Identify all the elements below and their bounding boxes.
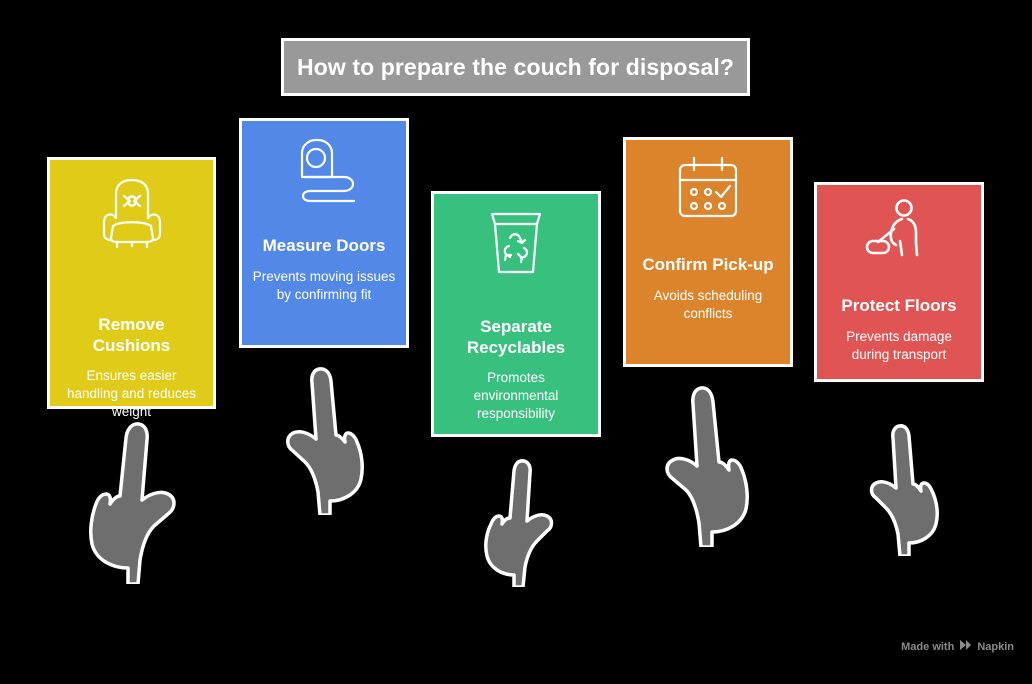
pointing-hand-5 [860, 420, 954, 556]
watermark-made-with: Made with [901, 641, 954, 653]
napkin-logo-icon [959, 639, 972, 654]
calendar-check-icon [672, 154, 744, 227]
pointing-hand-1 [70, 418, 190, 584]
armchair-icon [100, 174, 164, 257]
step-card-separate-recyclables[interactable]: Separate Recyclables Promotes environmen… [431, 191, 601, 437]
watermark-brand: Napkin [977, 641, 1014, 653]
person-mopping-icon [864, 199, 934, 270]
card-description: Prevents moving issues by confirming fit [252, 268, 396, 304]
page-title-bar: How to prepare the couch for disposal? [281, 38, 750, 96]
card-description: Prevents damage during transport [827, 328, 971, 364]
step-card-remove-cushions[interactable]: Remove Cushions Ensures easier handling … [47, 157, 216, 409]
pointing-hand-2 [272, 363, 382, 515]
card-description: Avoids scheduling conflicts [636, 287, 780, 323]
step-card-measure-doors[interactable]: Measure Doors Prevents moving issues by … [239, 118, 409, 348]
step-card-protect-floors[interactable]: Protect Floors Prevents damage during tr… [814, 182, 984, 382]
card-title: Protect Floors [841, 296, 956, 317]
watermark: Made with Napkin [901, 639, 1014, 654]
card-description: Ensures easier handling and reduces weig… [60, 367, 203, 421]
card-title: Separate Recyclables [444, 317, 588, 358]
card-description: Promotes environmental responsibility [444, 369, 588, 423]
card-title: Measure Doors [263, 236, 386, 257]
card-title: Remove Cushions [60, 315, 203, 356]
pointing-hand-4 [650, 382, 768, 547]
tape-measure-icon [288, 135, 360, 212]
page-title: How to prepare the couch for disposal? [297, 54, 734, 81]
infographic-canvas: How to prepare the couch for disposal? R… [0, 0, 1032, 684]
recycle-bin-icon [487, 208, 545, 283]
pointing-hand-3 [470, 455, 562, 587]
card-title: Confirm Pick-up [642, 255, 773, 276]
step-card-confirm-pickup[interactable]: Confirm Pick-up Avoids scheduling confli… [623, 137, 793, 367]
